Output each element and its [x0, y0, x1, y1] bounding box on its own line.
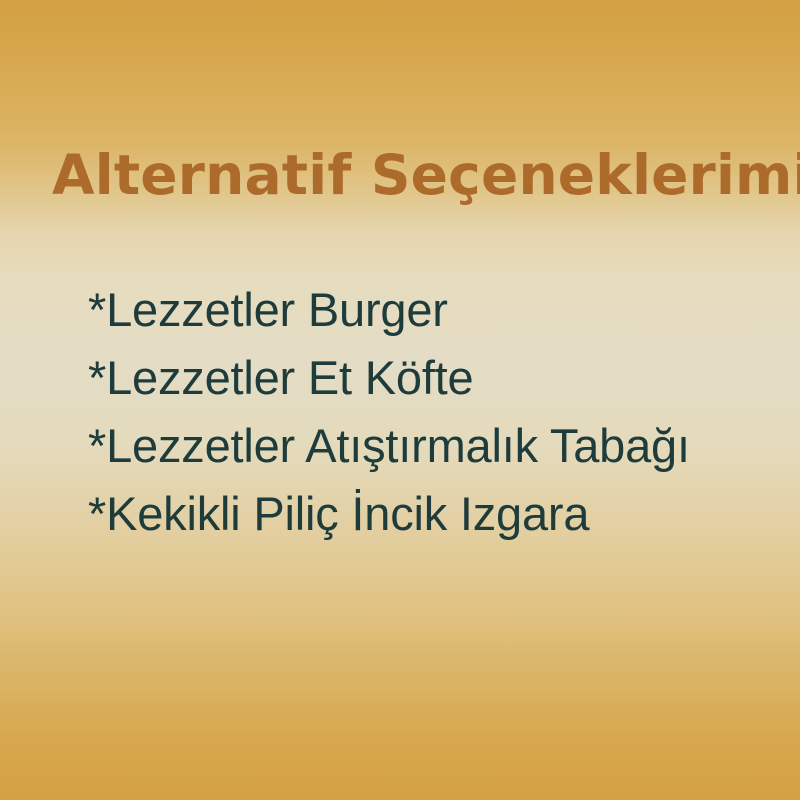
list-item-label: Lezzetler Burger	[106, 283, 448, 336]
list-item: *Lezzetler Burger	[88, 276, 788, 344]
bullet-asterisk-icon: *	[88, 283, 106, 336]
list-item-label: Kekikli Piliç İncik Izgara	[106, 487, 589, 540]
promo-poster: Alternatif Seçeneklerimiz *Lezzetler Bur…	[0, 0, 800, 800]
bullet-asterisk-icon: *	[88, 419, 106, 472]
list-item-label: Lezzetler Atıştırmalık Tabağı	[106, 419, 690, 472]
bullet-asterisk-icon: *	[88, 487, 106, 540]
list-item: *Lezzetler Et Köfte	[88, 344, 788, 412]
list-item: *Kekikli Piliç İncik Izgara	[88, 480, 788, 548]
list-item-label: Lezzetler Et Köfte	[106, 351, 473, 404]
page-title: Alternatif Seçeneklerimiz	[52, 143, 782, 207]
bullet-asterisk-icon: *	[88, 351, 106, 404]
list-item: *Lezzetler Atıştırmalık Tabağı	[88, 412, 788, 480]
menu-item-list: *Lezzetler Burger *Lezzetler Et Köfte *L…	[88, 276, 788, 548]
